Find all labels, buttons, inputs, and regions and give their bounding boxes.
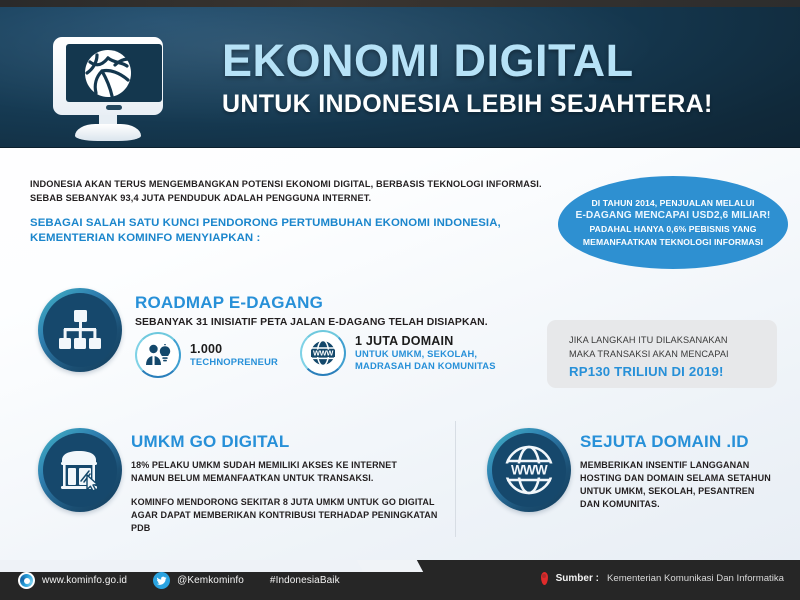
sejuta-line-4: DAN KOMUNITAS. bbox=[580, 498, 795, 511]
footer-hashtag[interactable]: #IndonesiaBaik bbox=[270, 575, 340, 586]
footer-hashtag-label: #IndonesiaBaik bbox=[270, 575, 340, 586]
footer-notch-fill bbox=[0, 560, 372, 572]
header-title-block: EKONOMI DIGITAL UNTUK INDONESIA LEBIH SE… bbox=[222, 37, 782, 119]
stat-domain-text: 1 JUTA DOMAIN UNTUK UMKM, SEKOLAH, MADRA… bbox=[355, 334, 496, 372]
sejuta-line-1: MEMBERIKAN INSENTIF LANGGANAN bbox=[580, 459, 795, 472]
intro-highlight-1: SEBAGAI SALAH SATU KUNCI PENDORONG PERTU… bbox=[30, 216, 550, 231]
header-banner: EKONOMI DIGITAL UNTUK INDONESIA LEBIH SE… bbox=[0, 7, 800, 148]
kominfo-logo-icon bbox=[18, 572, 35, 589]
stat-label-line-1: UNTUK UMKM, SEKOLAH, bbox=[355, 348, 496, 360]
monitor-base bbox=[75, 124, 141, 141]
roadmap-subtitle: SEBANYAK 31 INISIATIF PETA JALAN E-DAGAN… bbox=[135, 316, 515, 330]
stat-value: 1 JUTA DOMAIN bbox=[355, 334, 496, 348]
callout-line-2: E-DAGANG MENCAPAI USD2,6 MILIAR! bbox=[576, 209, 771, 223]
www-globe-icon-badge: WWW bbox=[487, 428, 571, 512]
footer-twitter[interactable]: @Kemkominfo bbox=[153, 572, 244, 589]
location-pin-icon bbox=[541, 572, 548, 585]
technopreneur-icon bbox=[135, 332, 181, 378]
stat-value: 1.000 bbox=[190, 342, 278, 356]
page-subtitle: UNTUK INDONESIA LEBIH SEJAHTERA! bbox=[222, 89, 782, 119]
callout-line-3: PADAHAL HANYA 0,6% PEBISNIS YANG bbox=[576, 223, 771, 236]
footer-source-label: Sumber : bbox=[556, 573, 599, 584]
twitter-icon bbox=[153, 572, 170, 589]
stat-technopreneur-text: 1.000 TECHNOPRENEUR bbox=[190, 342, 278, 368]
footer-website-label: www.kominfo.go.id bbox=[42, 575, 127, 586]
footer-source: Sumber : Kementerian Komunikasi Dan Info… bbox=[541, 572, 784, 585]
svg-text:WWW: WWW bbox=[313, 349, 333, 358]
svg-text:WWW: WWW bbox=[511, 463, 548, 478]
intro-line-1: INDONESIA AKAN TERUS MENGEMBANGKAN POTEN… bbox=[30, 178, 550, 192]
globe-icon bbox=[82, 49, 134, 99]
page-title: EKONOMI DIGITAL bbox=[222, 37, 782, 85]
projection-line-1: JIKA LANGKAH ITU DILAKSANAKAN bbox=[569, 334, 769, 348]
umkm-text-block: UMKM GO DIGITAL 18% PELAKU UMKM SUDAH ME… bbox=[131, 432, 451, 535]
umkm-p1-line-2: NAMUN BELUM MEMANFAATKAN UNTUK TRANSAKSI… bbox=[131, 472, 451, 485]
stat-domain: WWW 1 JUTA DOMAIN UNTUK UMKM, SEKOLAH, M… bbox=[300, 330, 496, 376]
callout-line-4: MEMANFAATKAN TEKNOLOGI INFORMASI bbox=[576, 236, 771, 249]
umkm-title: UMKM GO DIGITAL bbox=[131, 432, 451, 452]
umkm-p2-line-1: KOMINFO MENDORONG SEKITAR 8 JUTA UMKM UN… bbox=[131, 496, 451, 509]
projection-highlight: RP130 TRILIUN DI 2019! bbox=[569, 363, 769, 381]
roadmap-title: ROADMAP E-DAGANG bbox=[135, 293, 515, 313]
projection-box: JIKA LANGKAH ITU DILAKSANAKAN MAKA TRANS… bbox=[547, 320, 777, 388]
org-chart-icon-badge bbox=[38, 288, 122, 372]
infographic-page: EKONOMI DIGITAL UNTUK INDONESIA LEBIH SE… bbox=[0, 0, 800, 600]
sejuta-title: SEJUTA DOMAIN .ID bbox=[580, 432, 795, 452]
umkm-p2-line-2: AGAR DAPAT MEMBERIKAN KONTRIBUSI TERHADA… bbox=[131, 509, 451, 535]
monitor-globe-icon bbox=[47, 37, 169, 147]
footer-website[interactable]: www.kominfo.go.id bbox=[18, 572, 127, 589]
section-divider bbox=[455, 421, 456, 537]
footer-twitter-label: @Kemkominfo bbox=[177, 575, 244, 586]
intro-highlight-2: KEMENTERIAN KOMINFO MENYIAPKAN : bbox=[30, 231, 550, 246]
www-globe-icon: WWW bbox=[300, 330, 346, 376]
sejuta-line-3: UNTUK UMKM, SEKOLAH, PESANTREN bbox=[580, 485, 795, 498]
www-globe-icon: WWW bbox=[492, 433, 566, 507]
stat-technopreneur: 1.000 TECHNOPRENEUR bbox=[135, 332, 278, 378]
footer-notch-bevel bbox=[357, 560, 423, 572]
intro-line-2: SEBAB SEBANYAK 93,4 JUTA PENDUDUK ADALAH… bbox=[30, 192, 550, 206]
sejuta-text-block: SEJUTA DOMAIN .ID MEMBERIKAN INSENTIF LA… bbox=[580, 432, 795, 511]
top-accent-strip bbox=[0, 0, 800, 7]
footer-bar: www.kominfo.go.id @Kemkominfo #Indonesia… bbox=[0, 560, 800, 600]
sejuta-line-2: HOSTING DAN DOMAIN SELAMA SETAHUN bbox=[580, 472, 795, 485]
org-chart-icon bbox=[43, 293, 117, 367]
monitor-power-button bbox=[106, 105, 122, 110]
callout-line-1: DI TAHUN 2014, PENJUALAN MELALUI bbox=[576, 197, 771, 210]
statistic-callout-bubble: DI TAHUN 2014, PENJUALAN MELALUI E-DAGAN… bbox=[558, 176, 788, 269]
shop-cursor-icon bbox=[43, 433, 117, 507]
footer-source-value: Kementerian Komunikasi Dan Informatika bbox=[607, 573, 784, 584]
intro-text-block: INDONESIA AKAN TERUS MENGEMBANGKAN POTEN… bbox=[30, 178, 550, 246]
roadmap-text-block: ROADMAP E-DAGANG SEBANYAK 31 INISIATIF P… bbox=[135, 293, 515, 330]
stat-label: TECHNOPRENEUR bbox=[190, 356, 278, 368]
shop-cursor-icon-badge bbox=[38, 428, 122, 512]
projection-line-2: MAKA TRANSAKSI AKAN MENCAPAI bbox=[569, 348, 769, 362]
stat-label-line-2: MADRASAH DAN KOMUNITAS bbox=[355, 360, 496, 372]
footer-links: www.kominfo.go.id @Kemkominfo #Indonesia… bbox=[18, 572, 366, 589]
umkm-p1-line-1: 18% PELAKU UMKM SUDAH MEMILIKI AKSES KE … bbox=[131, 459, 451, 472]
